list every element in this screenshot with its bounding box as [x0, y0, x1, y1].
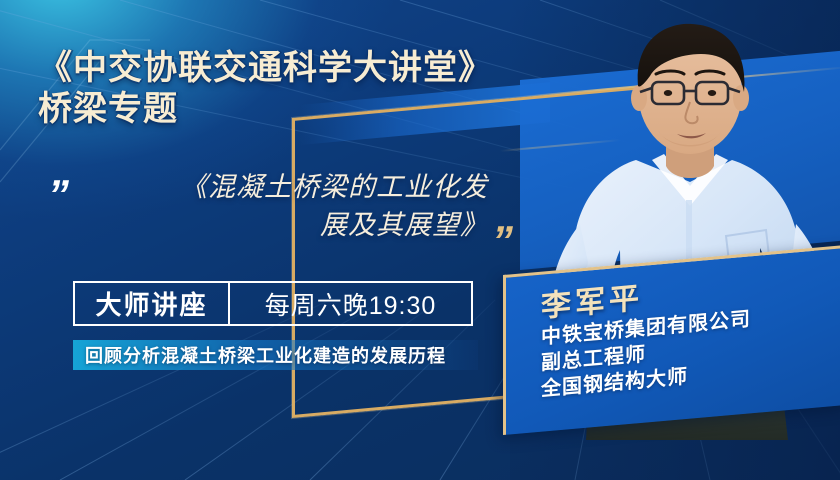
lecture-schedule: 每周六晚19:30	[230, 286, 471, 322]
quote-open-icon: ”	[48, 174, 67, 216]
title-line-1: 《中交协联交通科学大讲堂》	[38, 48, 558, 89]
lecture-poster: 李军平 中铁宝桥集团有限公司 副总工程师 全国钢结构大师 《中交协联交通科学大讲…	[0, 0, 840, 480]
description-banner: 回顾分析混凝土桥梁工业化建造的发展历程	[73, 340, 478, 370]
subtitle-line-2: 展及其展望》	[88, 206, 488, 244]
lecture-info-box: 大师讲座 每周六晚19:30	[73, 281, 473, 326]
title-line-2: 桥梁专题	[38, 89, 558, 130]
description-text: 回顾分析混凝土桥梁工业化建造的发展历程	[73, 342, 446, 368]
lecture-label: 大师讲座	[75, 283, 230, 324]
speaker-info-panel: 李军平 中铁宝桥集团有限公司 副总工程师 全国钢结构大师	[503, 245, 840, 435]
quote-close-icon: ”	[492, 220, 511, 262]
subtitle-line-1: 《混凝土桥梁的工业化发	[88, 168, 488, 206]
subtitle-block: ” 《混凝土桥梁的工业化发 展及其展望》 ”	[40, 168, 520, 244]
page-title: 《中交协联交通科学大讲堂》 桥梁专题	[38, 48, 558, 130]
